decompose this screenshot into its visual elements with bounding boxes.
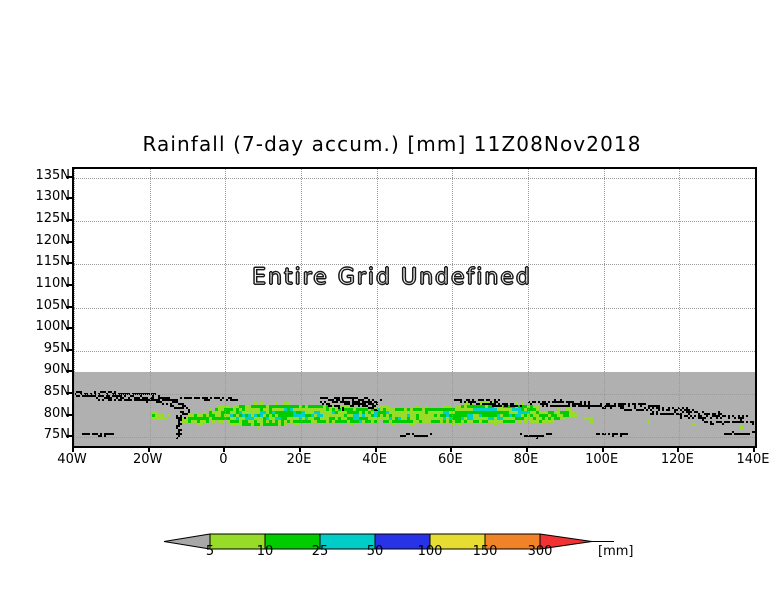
x-tick-label: 100E bbox=[572, 452, 632, 467]
gridline-horizontal bbox=[74, 264, 755, 265]
y-tick-label: 95N bbox=[44, 341, 70, 356]
gridline-horizontal bbox=[74, 394, 755, 395]
gridline-vertical bbox=[528, 169, 529, 446]
gridline-horizontal bbox=[74, 221, 755, 222]
colorbar-tick-label: 150 bbox=[462, 544, 508, 559]
y-tick-label: 135N bbox=[35, 168, 70, 183]
x-tick-label: 120E bbox=[647, 452, 707, 467]
y-tick-label: 130N bbox=[35, 189, 70, 204]
map-plot-area bbox=[72, 167, 757, 448]
gridline-vertical bbox=[225, 169, 226, 446]
gridline-horizontal bbox=[74, 437, 755, 438]
gridline-vertical bbox=[74, 169, 75, 446]
x-tick-label: 40W bbox=[42, 452, 102, 467]
colorbar-tick-label: 300 bbox=[517, 544, 563, 559]
y-tick-label: 85N bbox=[44, 384, 70, 399]
x-tick-label: 40E bbox=[345, 452, 405, 467]
colorbar-tick-label: 100 bbox=[407, 544, 453, 559]
x-tick-label: 20E bbox=[269, 452, 329, 467]
x-tick-label: 140E bbox=[723, 452, 783, 467]
colorbar-tick-label: 10 bbox=[242, 544, 288, 559]
gridline-horizontal bbox=[74, 351, 755, 352]
gridline-vertical bbox=[150, 169, 151, 446]
gridline-vertical bbox=[604, 169, 605, 446]
gridline-vertical bbox=[679, 169, 680, 446]
gridline-horizontal bbox=[74, 178, 755, 179]
gridline-vertical bbox=[452, 169, 453, 446]
y-tick-label: 100N bbox=[35, 319, 70, 334]
y-tick-label: 110N bbox=[35, 276, 70, 291]
page-title: Rainfall (7-day accum.) [mm] 11Z08Nov201… bbox=[0, 132, 784, 156]
gridline-vertical bbox=[377, 169, 378, 446]
colorbar bbox=[162, 528, 642, 568]
y-tick-label: 120N bbox=[35, 233, 70, 248]
colorbar-tick-label: 50 bbox=[352, 544, 398, 559]
x-tick-label: 80E bbox=[496, 452, 556, 467]
gridline-vertical bbox=[301, 169, 302, 446]
gridline-vertical bbox=[755, 169, 756, 446]
x-tick-label: 60E bbox=[420, 452, 480, 467]
x-tick-label: 0 bbox=[193, 452, 253, 467]
colorbar-tick-label: 5 bbox=[187, 544, 233, 559]
y-tick-label: 80N bbox=[44, 406, 70, 421]
y-tick-label: 90N bbox=[44, 362, 70, 377]
y-tick-label: 125N bbox=[35, 211, 70, 226]
y-tick-label: 75N bbox=[44, 427, 70, 442]
x-tick-label: 20W bbox=[118, 452, 178, 467]
y-tick-label: 105N bbox=[35, 298, 70, 313]
y-tick-label: 115N bbox=[35, 254, 70, 269]
colorbar-swatches bbox=[162, 528, 642, 568]
colorbar-tick-label: 25 bbox=[297, 544, 343, 559]
gridline-horizontal bbox=[74, 308, 755, 309]
plot-canvas: Rainfall (7-day accum.) [mm] 11Z08Nov201… bbox=[0, 0, 784, 612]
colorbar-units-label: [mm] bbox=[598, 544, 633, 559]
